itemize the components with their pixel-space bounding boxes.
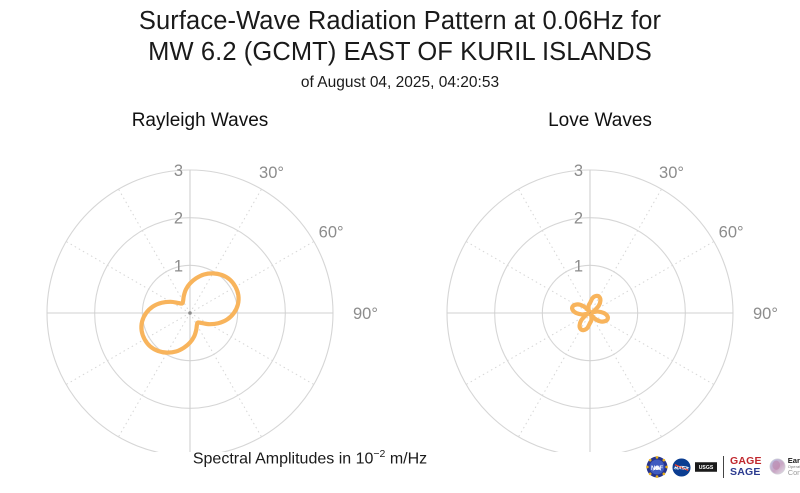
svg-text:USGS: USGS (699, 465, 714, 471)
figure-caption: Spectral Amplitudes in 10−2 m/Hz (0, 448, 620, 468)
radial-tick-label: 1 (174, 257, 183, 275)
caption-suffix: m/Hz (385, 450, 427, 467)
angular-tick-label: 90° (753, 305, 778, 323)
usgs-logo-icon: USGS (695, 462, 717, 472)
logo-divider (723, 456, 724, 478)
title-line-2: MW 6.2 (GCMT) EAST OF KURIL ISLANDS (0, 37, 800, 68)
page-title: Surface-Wave Radiation Pattern at 0.06Hz… (0, 6, 800, 94)
panel-love: Love Waves 12330°60°90° (400, 110, 800, 455)
radial-tick-label: 3 (574, 162, 583, 180)
angular-tick-label: 30° (659, 164, 684, 182)
caption-exponent: −2 (373, 448, 385, 460)
nsf-logo-icon: NSF (646, 456, 668, 478)
title-subtitle: of August 04, 2025, 04:20:53 (0, 72, 800, 94)
nasa-logo-icon: NASA (672, 458, 691, 477)
title-line-1: Surface-Wave Radiation Pattern at 0.06Hz… (0, 6, 800, 37)
angular-tick-label: 30° (259, 164, 284, 182)
panel-title-love: Love Waves (400, 110, 800, 132)
radial-tick-label: 3 (174, 162, 183, 180)
earthscope-circle-icon (769, 458, 786, 475)
gage-sage-logo: GAGE SAGE (730, 456, 762, 478)
polar-plot-rayleigh: 12330°60°90° (0, 132, 400, 452)
sage-label: SAGE (730, 467, 762, 478)
polar-svg-love: 12330°60°90° (400, 132, 800, 452)
earthscope-logo: EarthScope Operated by Consortium (769, 457, 800, 477)
radial-tick-label: 2 (574, 210, 583, 228)
polar-plot-love: 12330°60°90° (400, 132, 800, 452)
logo-strip: NSF NASA USGS GAGE SAGE E (646, 450, 798, 484)
polar-svg-rayleigh: 12330°60°90° (0, 132, 400, 452)
angular-tick-label: 60° (719, 224, 744, 242)
earthscope-consortium: Consortium (788, 469, 800, 477)
caption-prefix: Spectral Amplitudes in 10 (193, 450, 374, 467)
svg-text:NASA: NASA (674, 465, 688, 471)
angular-tick-label: 60° (319, 224, 344, 242)
radial-tick-label: 2 (174, 210, 183, 228)
panel-rayleigh: Rayleigh Waves 12330°60°90° (0, 110, 400, 455)
panel-title-rayleigh: Rayleigh Waves (0, 110, 400, 132)
svg-text:NSF: NSF (651, 466, 663, 472)
angular-tick-label: 90° (353, 305, 378, 323)
radial-tick-label: 1 (574, 257, 583, 275)
